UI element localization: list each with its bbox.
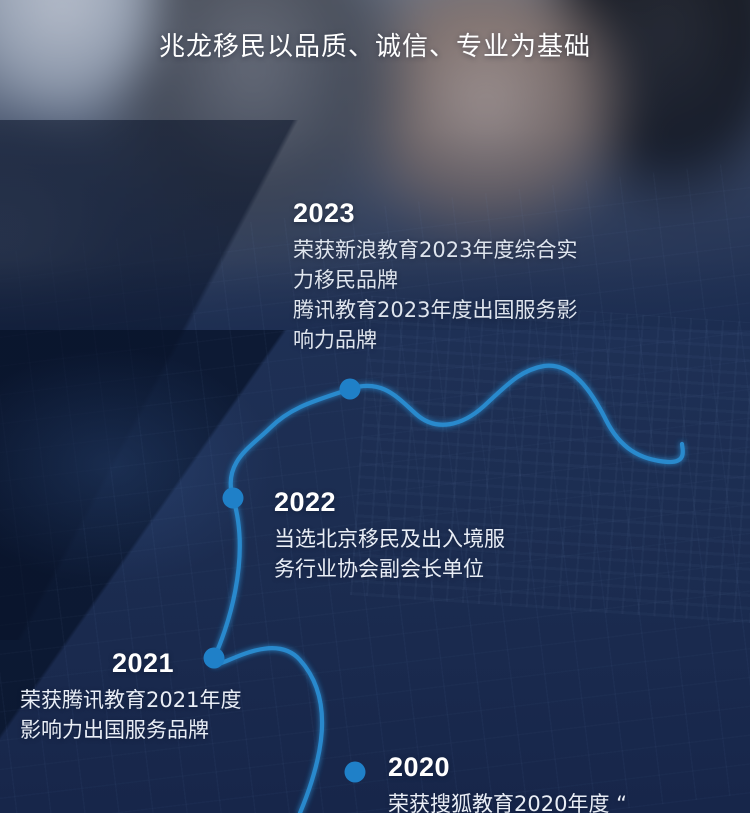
- infographic-stage: 兆龙移民以品质、诚信、专业为基础 2023 荣获新浪教育2023年度综合实 力移…: [0, 0, 750, 813]
- page-title: 兆龙移民以品质、诚信、专业为基础: [0, 26, 750, 63]
- timeline-path: [213, 366, 683, 813]
- timeline-dot-2022[interactable]: [223, 488, 244, 509]
- milestone-description: 荣获搜狐教育2020年度 “: [388, 789, 627, 813]
- milestone-description: 荣获新浪教育2023年度综合实 力移民品牌 腾讯教育2023年度出国服务影 响力…: [293, 235, 577, 355]
- milestone-2023: 2023 荣获新浪教育2023年度综合实 力移民品牌 腾讯教育2023年度出国服…: [293, 198, 577, 355]
- milestone-2022: 2022 当选北京移民及出入境服 务行业协会副会长单位: [274, 487, 505, 584]
- milestone-2021: 2021 荣获腾讯教育2021年度 影响力出国服务品牌: [20, 648, 241, 745]
- timeline-dot-2020[interactable]: [345, 762, 366, 783]
- milestone-year-label: 2023: [293, 198, 577, 228]
- milestone-2020: 2020 荣获搜狐教育2020年度 “: [388, 752, 627, 813]
- milestone-year-label: 2021: [20, 648, 241, 678]
- milestone-year-label: 2020: [388, 752, 627, 782]
- timeline-dot-2023[interactable]: [340, 379, 361, 400]
- milestone-description: 荣获腾讯教育2021年度 影响力出国服务品牌: [20, 685, 241, 745]
- milestone-year-label: 2022: [274, 487, 505, 517]
- milestone-description: 当选北京移民及出入境服 务行业协会副会长单位: [274, 524, 505, 584]
